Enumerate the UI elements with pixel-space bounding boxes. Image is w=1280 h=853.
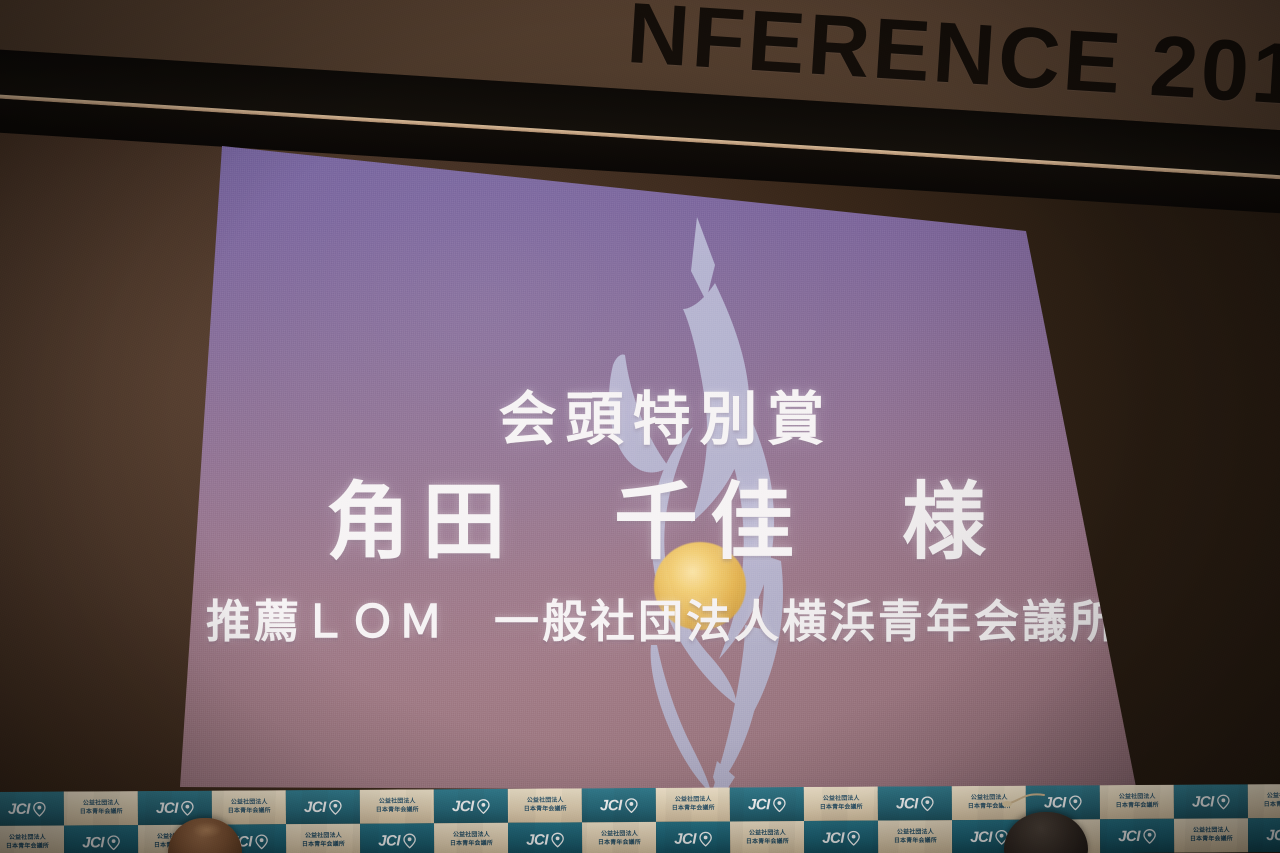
photo-scene: NFERENCE 2017 [0,0,1280,853]
gooseneck-microphone-icon [1002,790,1046,807]
seated-person-left-hair-highlight [192,822,222,838]
